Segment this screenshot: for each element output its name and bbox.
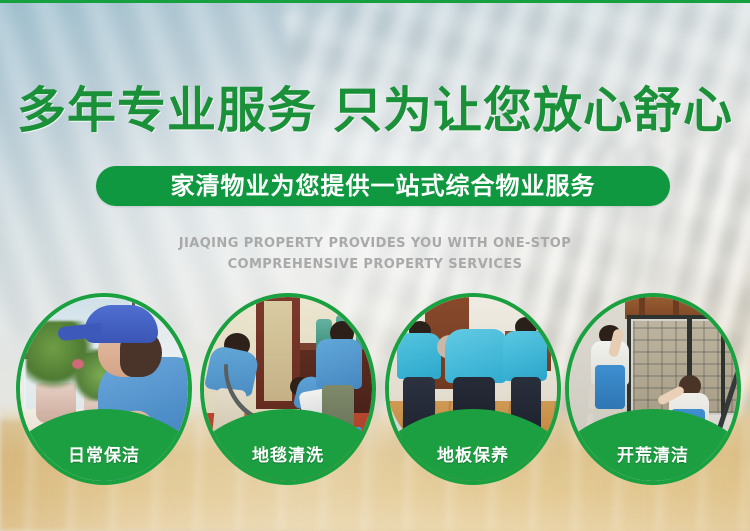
worker-right-torso — [316, 339, 362, 389]
promo-banner: 多年专业服务只为让您放心舒心 家清物业为您提供一站式综合物业服务 JIAQING… — [0, 0, 750, 531]
english-subtitle-line-1: JIAQING PROPERTY PROVIDES YOU WITH ONE-S… — [179, 236, 571, 251]
plant-flower — [72, 359, 84, 369]
worker-on-ladder — [587, 325, 629, 415]
top-green-rule — [0, 0, 750, 3]
service-circle-row: 日常保洁 — [0, 293, 750, 485]
tagline-pill: 家清物业为您提供一站式综合物业服务 — [96, 166, 670, 206]
page-title: 多年专业服务只为让您放心舒心 — [0, 82, 750, 140]
service-item-carpet-cleaning[interactable]: 地毯清洗 — [200, 293, 376, 485]
tagline-text: 家清物业为您提供一站式综合物业服务 — [171, 174, 596, 198]
service-item-floor-maintenance[interactable]: 地板保养 — [385, 293, 561, 485]
service-caption: 地毯清洗 — [204, 447, 372, 465]
service-caption: 开荒清洁 — [569, 447, 737, 465]
service-caption: 地板保养 — [389, 447, 557, 465]
service-item-post-construction-cleaning[interactable]: 开荒清洁 — [565, 293, 741, 485]
worker-on-ladder-apron — [595, 365, 625, 409]
english-subtitle-line-2: COMPREHENSIVE PROPERTY SERVICES — [0, 254, 750, 275]
headline-part-1: 多年专业服务 — [17, 82, 317, 139]
headline-part-2: 只为让您放心舒心 — [333, 82, 733, 139]
english-subtitle: JIAQING PROPERTY PROVIDES YOU WITH ONE-S… — [0, 233, 750, 275]
service-item-daily-cleaning[interactable]: 日常保洁 — [16, 293, 192, 485]
service-caption: 日常保洁 — [20, 447, 188, 465]
worker-right-torso — [503, 331, 547, 381]
